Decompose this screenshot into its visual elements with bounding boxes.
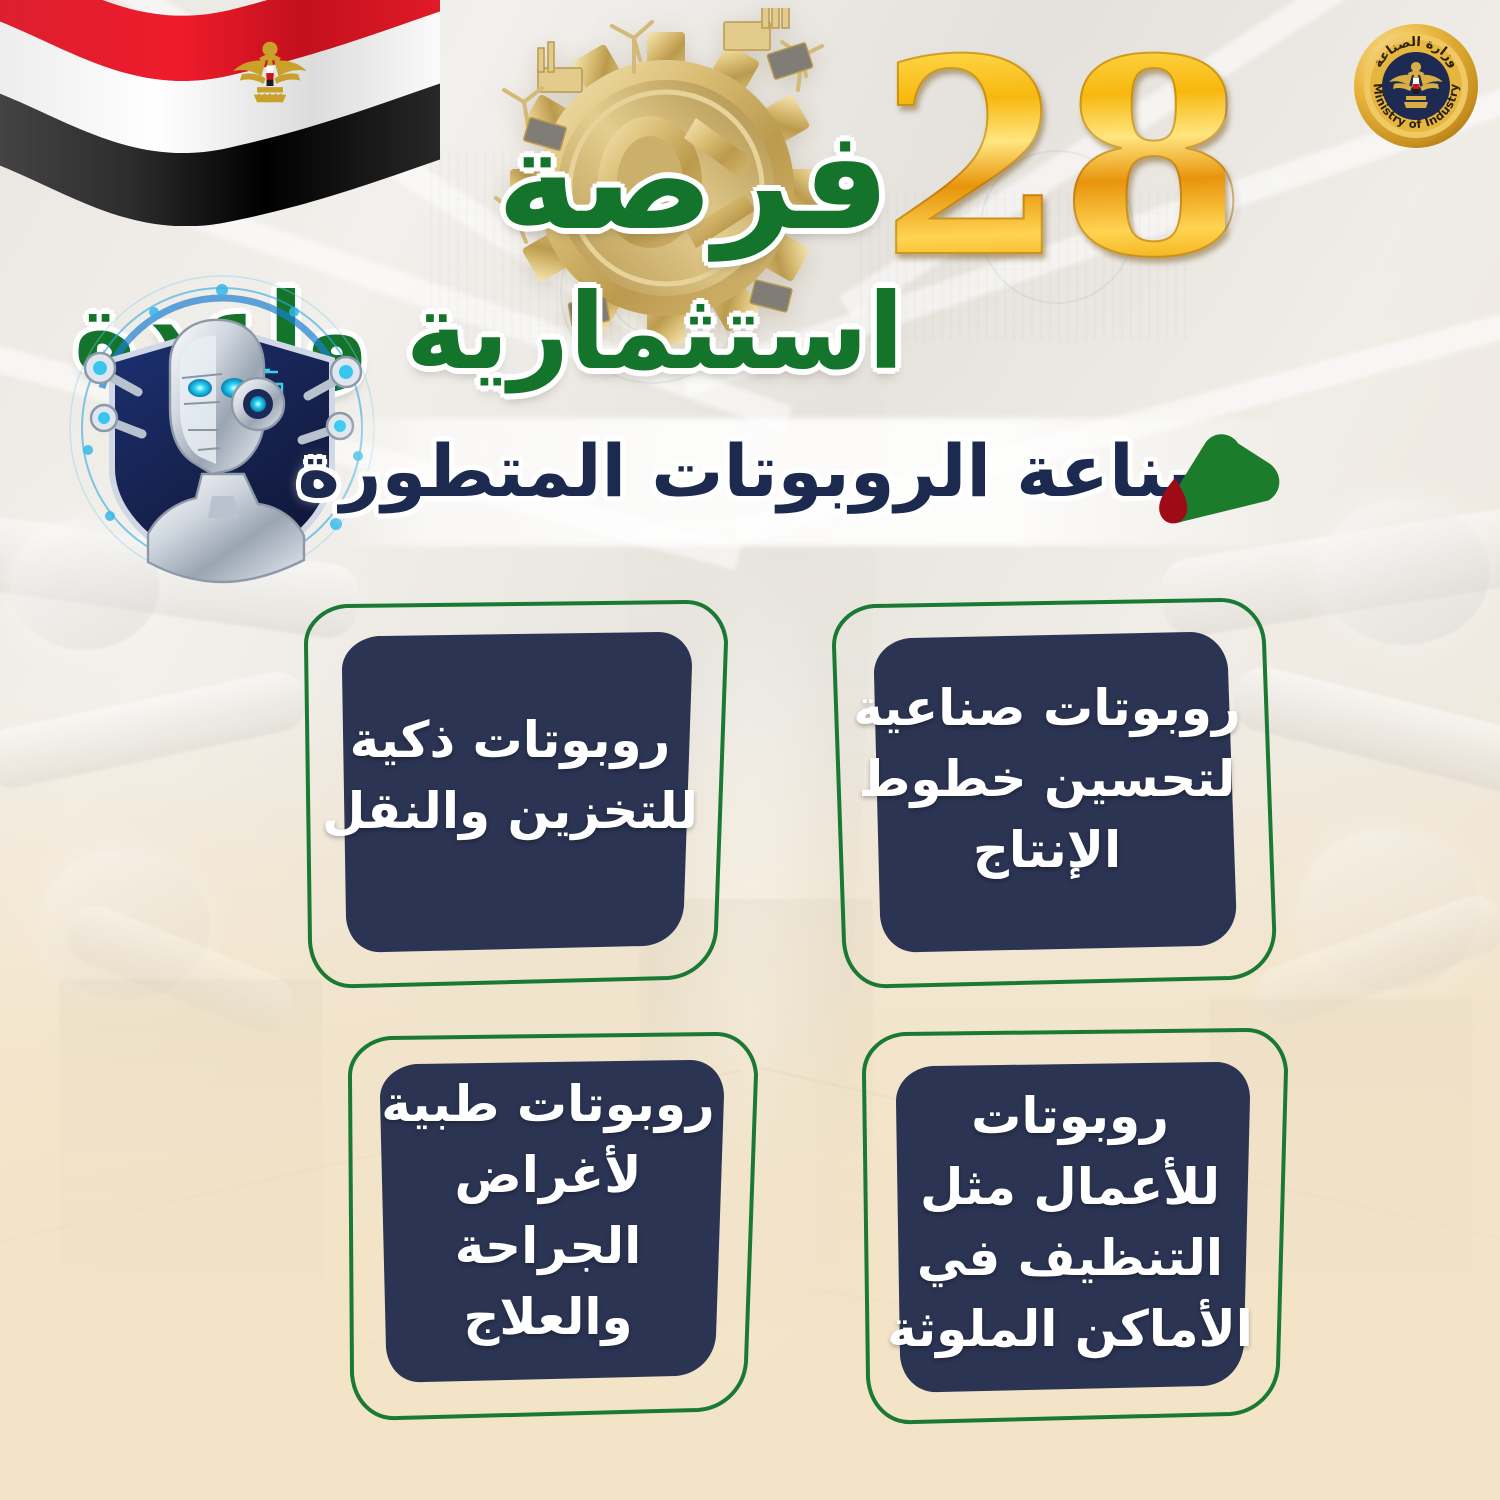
opportunity-card-top-right[interactable]: روبوتات صناعية لتحسين خطوط الإنتاج (812, 596, 1282, 996)
opportunity-card-text: روبوتات ذكية للتخزين والنقل (290, 600, 730, 992)
opportunity-card-text: روبوتات للأعمال مثل التنظيف في الأماكن ا… (848, 1028, 1292, 1440)
opportunity-count: 28 (895, 8, 1225, 308)
opportunity-card-text: روبوتات طبية لأغراض الجراحة والعلاج (338, 1032, 758, 1424)
opportunity-card-bottom-left[interactable]: روبوتات طبية لأغراض الجراحة والعلاج (338, 1032, 758, 1424)
green-play-triangle-icon (1140, 412, 1290, 552)
industry-gear-icon (470, 8, 870, 348)
infographic-poster: 28 فرصة استثمارية واعدة (0, 0, 1500, 1500)
page-title: صناعة الروبوتات المتطورة (298, 432, 1235, 511)
egypt-flag (0, 0, 440, 226)
opportunity-card-top-left[interactable]: روبوتات ذكية للتخزين والنقل (290, 600, 730, 992)
opportunity-card-text: روبوتات صناعية لتحسين خطوط الإنتاج (812, 596, 1282, 996)
ministry-logo: وزارة الصناعة Ministry of Industry (1352, 22, 1480, 150)
opportunity-card-bottom-right[interactable]: روبوتات للأعمال مثل التنظيف في الأماكن ا… (848, 1028, 1292, 1440)
